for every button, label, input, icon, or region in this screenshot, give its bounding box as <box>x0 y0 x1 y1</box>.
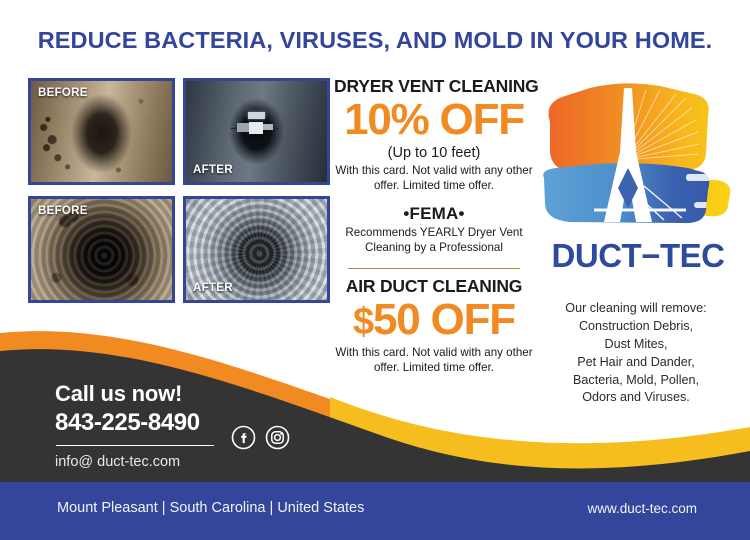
instagram-icon[interactable] <box>265 425 290 450</box>
fema-note: •FEMA• Recommends YEARLY Dryer Vent Clea… <box>334 204 534 255</box>
vent-fixture-icon <box>240 117 270 139</box>
logo-wordmark: DUCT−TEC <box>536 237 740 275</box>
facebook-icon[interactable] <box>231 425 256 450</box>
social-links <box>231 425 290 450</box>
footer-location: Mount Pleasant | South Carolina | United… <box>57 500 364 516</box>
bridge-brushstroke-icon <box>536 82 740 242</box>
photo-label-before: BEFORE <box>38 87 88 99</box>
offer-dryer-condition: (Up to 10 feet) <box>334 145 534 161</box>
photo-after-rectangular-duct: AFTER <box>183 78 330 185</box>
footer-website[interactable]: www.duct-tec.com <box>587 501 697 516</box>
photo-label-before: BEFORE <box>38 205 88 217</box>
photo-label-after: AFTER <box>193 282 233 294</box>
email-address[interactable]: info@ duct-tec.com <box>55 454 295 470</box>
photo-before-rectangular-duct: BEFORE <box>28 78 175 185</box>
page-title: REDUCE BACTERIA, VIRUSES, AND MOLD IN YO… <box>0 27 750 54</box>
offer-airduct-title: AIR DUCT CLEANING <box>334 276 534 297</box>
call-now-label: Call us now! <box>55 381 295 407</box>
photo-after-round-duct: AFTER <box>183 196 330 303</box>
section-divider <box>348 268 520 270</box>
company-logo: DUCT−TEC <box>536 82 740 282</box>
flyer-canvas: REDUCE BACTERIA, VIRUSES, AND MOLD IN YO… <box>0 0 750 540</box>
offer-dryer-fine-print: With this card. Not valid with any other… <box>334 164 534 194</box>
fema-heading: •FEMA• <box>334 204 534 224</box>
fema-body: Recommends YEARLY Dryer Vent Cleaning by… <box>334 225 534 255</box>
offer-dryer-title: DRYER VENT CLEANING <box>334 76 534 97</box>
photo-before-round-duct: BEFORE <box>28 196 175 303</box>
before-after-photo-grid: BEFORE AFTER BEFORE AFTER <box>28 78 333 305</box>
photo-label-after: AFTER <box>193 164 233 176</box>
offer-dryer-amount: 10% OFF <box>334 98 534 143</box>
offer-dryer-vent: DRYER VENT CLEANING 10% OFF (Up to 10 fe… <box>334 76 534 194</box>
footer-bar: Mount Pleasant | South Carolina | United… <box>0 482 750 540</box>
contact-divider <box>56 445 214 446</box>
